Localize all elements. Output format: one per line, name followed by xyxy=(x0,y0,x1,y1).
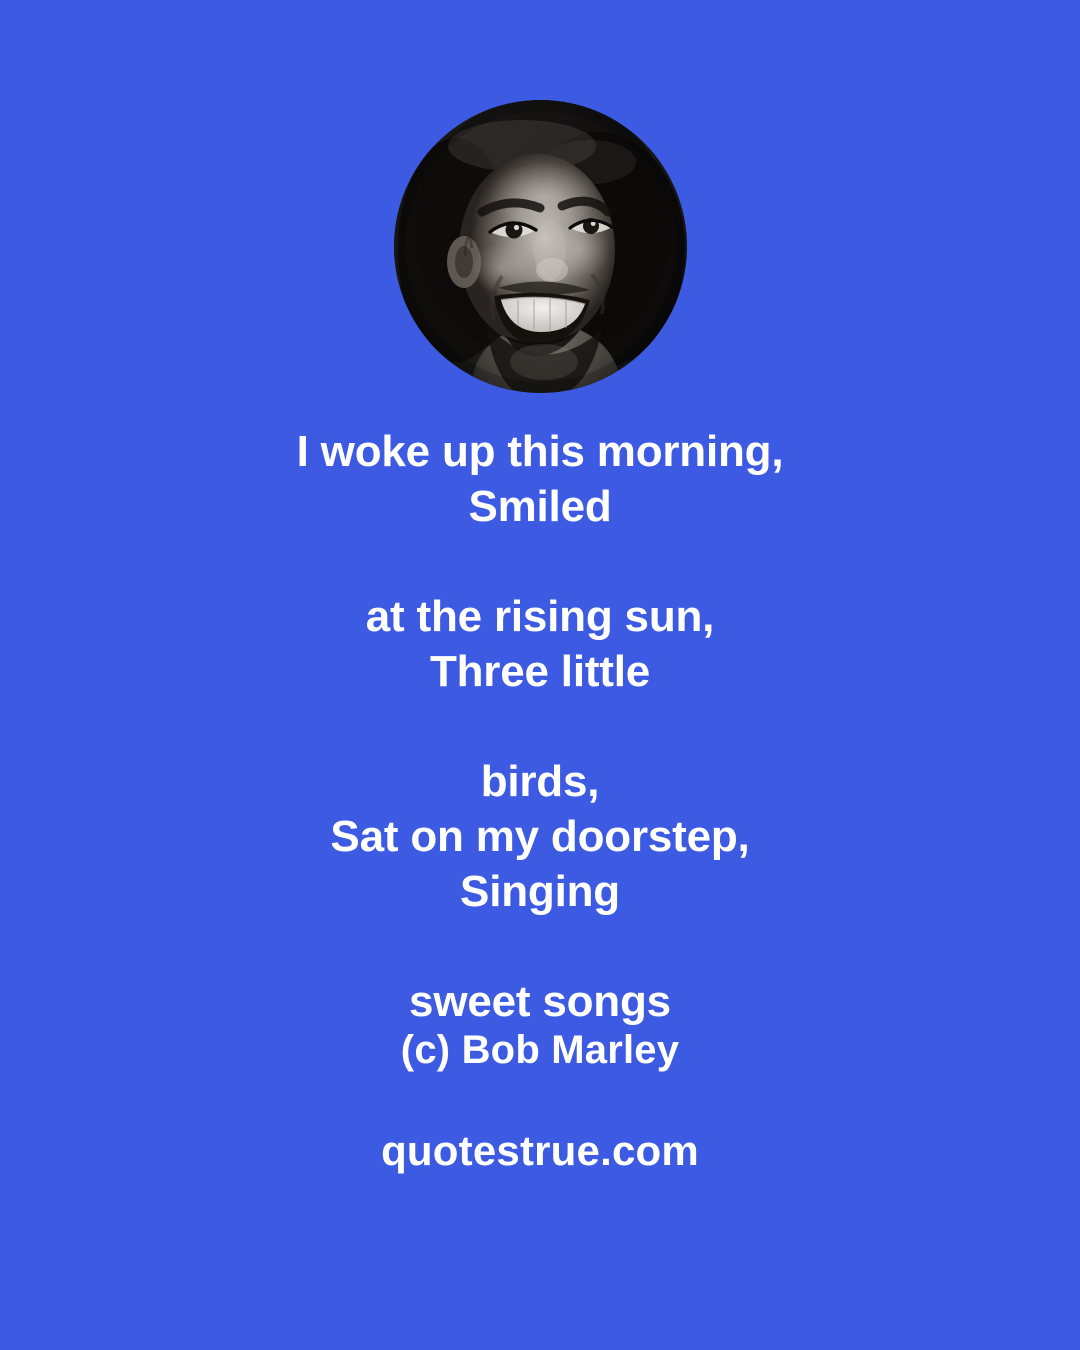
paragraph-spacer xyxy=(0,534,1080,589)
quote-paragraph-3: birds, Sat on my doorstep, Singing xyxy=(250,754,830,919)
portrait-container xyxy=(394,100,687,393)
quote-attribution: (c) Bob Marley xyxy=(0,1024,1080,1076)
quote-card: I woke up this morning, Smiled at the ri… xyxy=(0,0,1080,1350)
quote-text: I woke up this morning, Smiled at the ri… xyxy=(0,424,1080,1029)
quote-paragraph-1: I woke up this morning, Smiled xyxy=(250,424,830,534)
quote-paragraph-4: sweet songs xyxy=(250,974,830,1029)
paragraph-spacer xyxy=(0,699,1080,754)
website-watermark[interactable]: quotestrue.com xyxy=(0,1124,1080,1178)
portrait-photo-bob-marley xyxy=(394,100,687,393)
paragraph-spacer xyxy=(0,919,1080,974)
quote-paragraph-2: at the rising sun, Three little xyxy=(250,589,830,699)
